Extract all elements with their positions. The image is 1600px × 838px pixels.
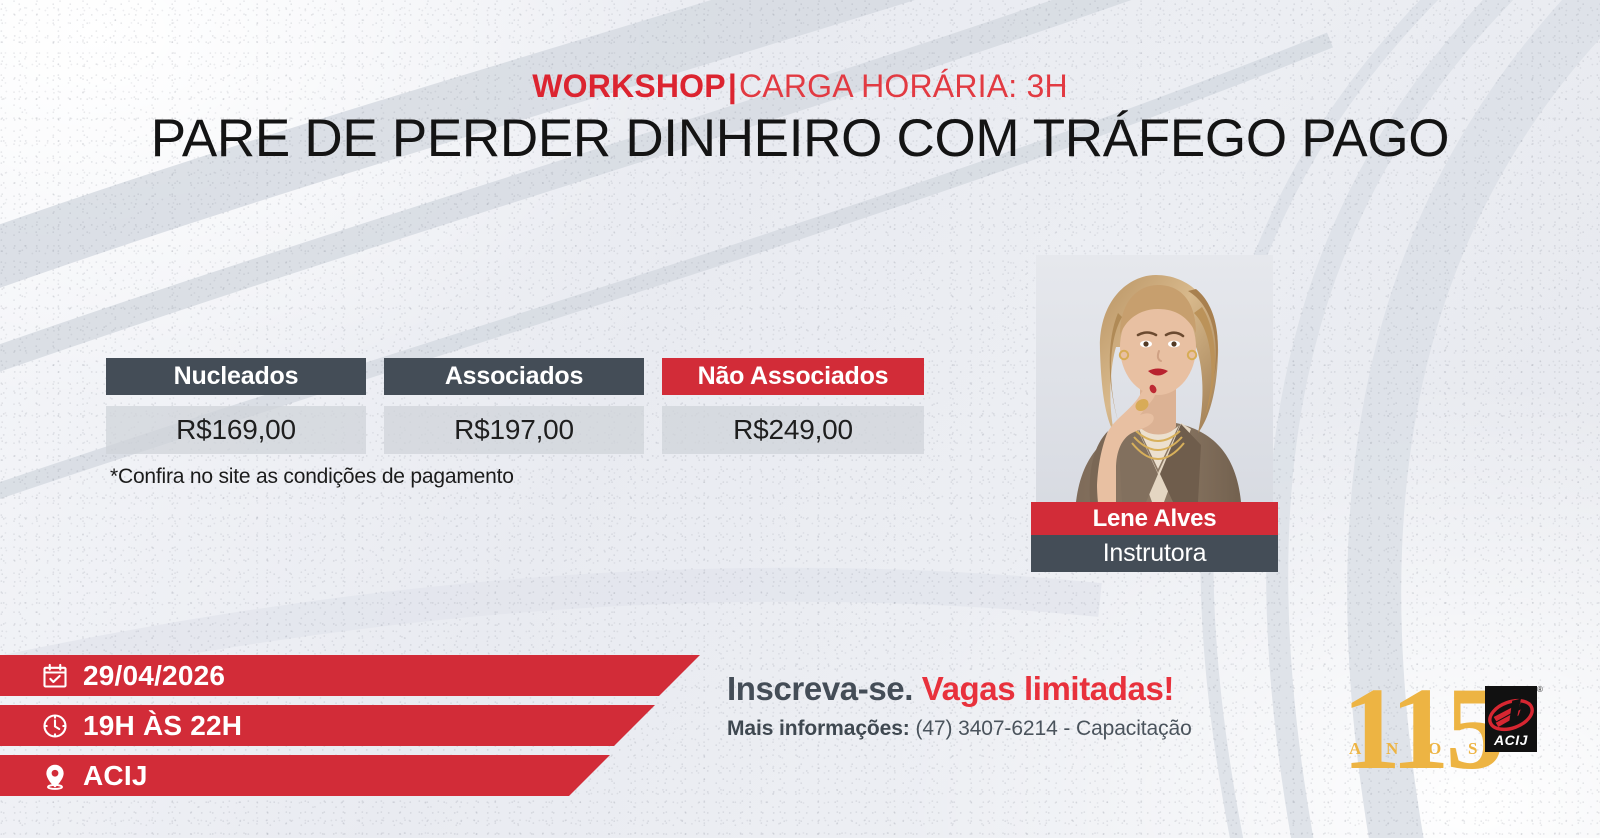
clock-icon (38, 709, 72, 743)
cta-contact-line: Mais informações: (47) 3407-6214 - Capac… (727, 717, 1327, 741)
cta-contact-label: Mais informações: (727, 717, 910, 740)
cta-headline: Inscreva-se. Vagas limitadas! (727, 670, 1327, 708)
event-date-text: 29/04/2026 (83, 660, 225, 692)
promotional-banner: WORKSHOP|CARGA HORÁRIA: 3H PARE DE PERDE… (0, 0, 1600, 838)
cta-block: Inscreva-se. Vagas limitadas! Mais infor… (727, 670, 1327, 741)
svg-text:115: 115 (1342, 663, 1501, 787)
price-column-associados: Associados R$197,00 (384, 358, 644, 454)
cta-register-label: Inscreva-se. (727, 670, 913, 707)
location-pin-icon (38, 759, 72, 793)
cta-limited-seats-label: Vagas limitadas! (922, 670, 1174, 707)
instructor-photo (1036, 255, 1273, 502)
acij-logo: ACIJ ® (1483, 682, 1545, 760)
kicker-separator: | (726, 68, 739, 104)
pricing-note: *Confira no site as condições de pagamen… (110, 465, 514, 489)
event-location-text: ACIJ (83, 760, 148, 792)
kicker-line: WORKSHOP|CARGA HORÁRIA: 3H (0, 68, 1600, 105)
pricing-table: Nucleados R$169,00 Associados R$197,00 N… (106, 358, 924, 454)
svg-text:S: S (1468, 739, 1478, 758)
price-value-associados: R$197,00 (384, 406, 644, 454)
event-details-bars: 29/04/2026 19H ÀS 22H ACI (0, 655, 740, 800)
price-header-nao-associados: Não Associados (662, 358, 924, 395)
price-value-nao-associados: R$249,00 (662, 406, 924, 454)
price-header-associados: Associados (384, 358, 644, 395)
calendar-check-icon (38, 659, 72, 693)
price-column-nao-associados: Não Associados R$249,00 (662, 358, 924, 454)
cta-contact-value: (47) 3407-6214 - Capacitação (915, 717, 1191, 740)
svg-text:O: O (1428, 739, 1442, 758)
page-title: PARE DE PERDER DINHEIRO COM TRÁFEGO PAGO (0, 108, 1600, 169)
kicker-workload-label: CARGA HORÁRIA: 3H (739, 68, 1068, 104)
price-column-nucleados: Nucleados R$169,00 (106, 358, 366, 454)
event-time-text: 19H ÀS 22H (83, 710, 242, 742)
event-date-bar: 29/04/2026 (0, 655, 700, 696)
price-value-nucleados: R$169,00 (106, 406, 366, 454)
price-header-nucleados: Nucleados (106, 358, 366, 395)
kicker-workshop-label: WORKSHOP (532, 68, 726, 104)
registered-mark: ® (1537, 685, 1543, 694)
svg-text:N: N (1386, 739, 1399, 758)
acij-logo-text: ACIJ (1493, 732, 1529, 748)
event-time-bar: 19H ÀS 22H (0, 705, 655, 746)
svg-text:A: A (1349, 739, 1362, 758)
instructor-role: Instrutora (1031, 535, 1278, 572)
instructor-name: Lene Alves (1031, 502, 1278, 535)
event-location-bar: ACIJ (0, 755, 610, 796)
